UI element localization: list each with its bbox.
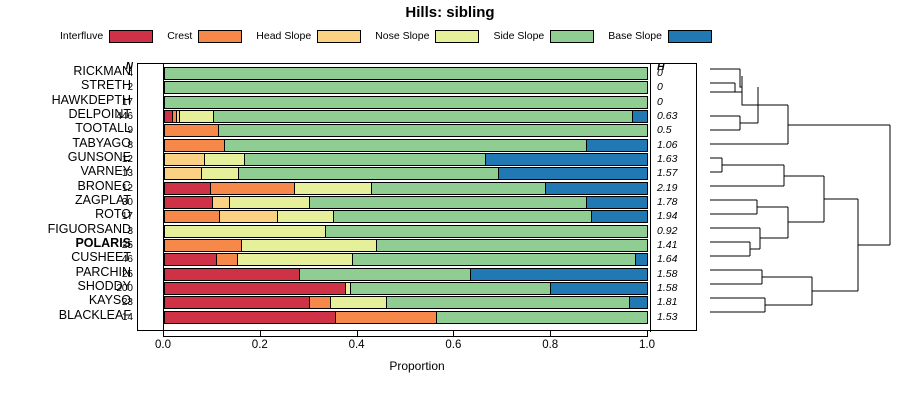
stacked-bar[interactable] [164,296,648,309]
legend-label: Interfluve [60,30,103,42]
row-h-value: 0 [652,81,696,94]
bar-segment[interactable] [372,183,546,194]
legend-swatch [198,30,242,43]
row-n-value: 17 [111,210,137,223]
bar-segment[interactable] [630,297,647,308]
legend-label: Crest [167,30,192,42]
stacked-bar[interactable] [164,139,648,152]
legend-swatch [550,30,594,43]
row-h-value: 1.41 [652,239,696,252]
row-h-value: 1.58 [652,268,696,281]
stacked-bar[interactable] [164,81,648,94]
row-n-value: 12 [111,182,137,195]
bar-segment[interactable] [165,240,242,251]
bar-segment[interactable] [165,82,647,93]
bar-segment[interactable] [165,283,346,294]
chart-row: 170 [138,96,698,109]
x-tick-label: 1.0 [639,339,655,351]
x-tick-mark [550,331,551,337]
bar-segment[interactable] [220,211,278,222]
bar-segment[interactable] [217,254,238,265]
stacked-bar[interactable] [164,110,648,123]
row-n-value: 8 [111,139,137,152]
row-h-value: 0.92 [652,225,696,238]
chart-row: 171.94 [138,210,698,223]
bar-segment[interactable] [165,183,211,194]
plot-area: 40201704460.6390.581.06121.63131.57122.1… [137,63,697,331]
bar-segment[interactable] [202,168,239,179]
row-h-value: 2.19 [652,182,696,195]
row-n-value: 30 [111,196,137,209]
bar-segment[interactable] [165,140,225,151]
chart-row: 251.58 [138,268,698,281]
page-title: Hills: sibling [0,4,900,21]
bar-segment[interactable] [180,111,214,122]
bar-segment[interactable] [295,183,372,194]
legend-label: Side Slope [493,30,544,42]
row-n-value: 14 [111,311,137,324]
row-n-value: 46 [111,253,137,266]
stacked-bar[interactable] [164,268,648,281]
legend: InterfluveCrestHead SlopeNose SlopeSide … [60,26,760,46]
bar-segment[interactable] [437,312,647,323]
h-column-header: H [652,61,665,73]
x-tick-mark [163,331,164,337]
chart-row: 141.53 [138,311,698,324]
stacked-bar[interactable] [164,253,648,266]
n-column-header: N [111,61,137,72]
stacked-bar[interactable] [164,311,648,324]
chart-row: 20 [138,81,698,94]
row-n-value: 25 [111,239,137,252]
bar-segment[interactable] [205,154,245,165]
chart-page: Hills: sibling InterfluveCrestHead Slope… [0,0,900,400]
row-n-value: 12 [111,153,137,166]
bar-segment[interactable] [238,254,353,265]
legend-entry: Side Slope [493,30,594,43]
chart-row: 30.92 [138,225,698,238]
x-tick-mark [357,331,358,337]
bar-segment[interactable] [546,183,647,194]
row-n-value: 23 [111,296,137,309]
stacked-bar[interactable] [164,210,648,223]
chart-row: 131.57 [138,167,698,180]
x-tick-label: 0.6 [445,339,461,351]
bar-segment[interactable] [310,297,332,308]
row-h-value: 1.94 [652,210,696,223]
bar-segment[interactable] [587,197,647,208]
legend-entry: Nose Slope [375,30,479,43]
x-tick-label: 0.8 [542,339,558,351]
x-tick-mark [647,331,648,337]
chart-row: 122.19 [138,182,698,195]
bar-segment[interactable] [551,283,647,294]
bar-segment[interactable] [387,297,630,308]
row-h-value: 1.81 [652,296,696,309]
bar-segment[interactable] [230,197,310,208]
row-n-value: 17 [111,96,137,109]
chart-row: 461.64 [138,253,698,266]
row-h-value: 1.64 [652,253,696,266]
bar-segment[interactable] [239,168,498,179]
legend-label: Head Slope [256,30,311,42]
stacked-bar[interactable] [164,124,648,137]
stacked-bar[interactable] [164,96,648,109]
bar-segment[interactable] [242,240,377,251]
bar-segment[interactable] [165,254,217,265]
chart-row: 231.81 [138,296,698,309]
bar-segment[interactable] [165,211,220,222]
bar-segment[interactable] [326,226,647,237]
row-h-value: 1.58 [652,282,696,295]
row-h-value: 1.57 [652,167,696,180]
x-tick-label: 0.4 [349,339,365,351]
bar-segment[interactable] [351,283,551,294]
stacked-bar[interactable] [164,153,648,166]
bar-segment[interactable] [331,297,386,308]
chart-row: 301.78 [138,196,698,209]
stacked-bar[interactable] [164,282,648,295]
legend-entry: Interfluve [60,30,153,43]
stacked-bar[interactable] [164,167,648,180]
bar-segment[interactable] [499,168,647,179]
row-h-value: 0 [652,96,696,109]
dendrogram-svg [700,60,900,335]
legend-entry: Base Slope [608,30,712,43]
chart-row: 121.63 [138,153,698,166]
chart-row: 81.06 [138,139,698,152]
row-n-value: 3 [111,225,137,238]
legend-label: Nose Slope [375,30,429,42]
chart-row: 251.41 [138,239,698,252]
chart-row: 4460.63 [138,110,698,123]
bar-segment[interactable] [633,111,647,122]
bar-segment[interactable] [587,140,647,151]
x-tick-mark [453,331,454,337]
chart-row: 40 [138,67,698,80]
legend-entry: Head Slope [256,30,361,43]
row-n-value: 25 [111,268,137,281]
bar-segment[interactable] [636,254,647,265]
stacked-bar[interactable] [164,196,648,209]
bar-segment[interactable] [165,154,205,165]
x-axis: 0.00.20.40.60.81.0 Proportion [137,331,697,371]
chart-row: 2001.58 [138,282,698,295]
bar-segment[interactable] [165,312,336,323]
bar-segment[interactable] [165,97,647,108]
dendrogram [700,60,900,335]
bar-segment[interactable] [165,297,310,308]
bar-segment[interactable] [334,211,592,222]
legend-swatch [668,30,712,43]
bar-segment[interactable] [219,125,647,136]
legend-swatch [317,30,361,43]
bar-segment[interactable] [214,111,632,122]
bar-segment[interactable] [225,140,587,151]
x-axis-title: Proportion [137,359,697,373]
x-tick-mark [260,331,261,337]
bar-segment[interactable] [165,197,213,208]
row-n-value: 13 [111,167,137,180]
row-n-value: 9 [111,124,137,137]
bar-segment[interactable] [165,168,202,179]
row-h-value: 1.06 [652,139,696,152]
bar-segment[interactable] [165,68,647,79]
bar-segment[interactable] [353,254,636,265]
bar-segment[interactable] [278,211,333,222]
legend-entry: Crest [167,30,242,43]
bar-segment[interactable] [592,211,647,222]
row-h-value: 1.78 [652,196,696,209]
stacked-bar[interactable] [164,67,648,80]
x-axis-line [163,336,647,337]
chart-row: 90.5 [138,124,698,137]
bar-segment[interactable] [471,269,647,280]
bar-segment[interactable] [377,240,647,251]
bar-segment[interactable] [213,197,230,208]
legend-swatch [435,30,479,43]
stacked-bar[interactable] [164,239,648,252]
stacked-bar[interactable] [164,182,648,195]
legend-label: Base Slope [608,30,662,42]
row-h-value: 0.63 [652,110,696,123]
bar-segment[interactable] [310,197,587,208]
row-h-value: 1.63 [652,153,696,166]
row-n-value: 446 [111,110,137,123]
x-tick-label: 0.2 [252,339,268,351]
bar-segment[interactable] [245,154,486,165]
row-h-value: 0.5 [652,124,696,137]
legend-swatch [109,30,153,43]
bar-segment[interactable] [165,125,219,136]
stacked-bar[interactable] [164,225,648,238]
bar-segment[interactable] [486,154,647,165]
x-tick-label: 0.0 [155,339,171,351]
bar-segment[interactable] [300,269,471,280]
row-h-value: 1.53 [652,311,696,324]
row-n-value: 2 [111,81,137,94]
bar-segment[interactable] [211,183,295,194]
bar-segment[interactable] [165,111,173,122]
bar-segment[interactable] [165,226,326,237]
row-n-value: 200 [111,282,137,295]
bar-segment[interactable] [165,269,300,280]
bar-segment[interactable] [336,312,437,323]
